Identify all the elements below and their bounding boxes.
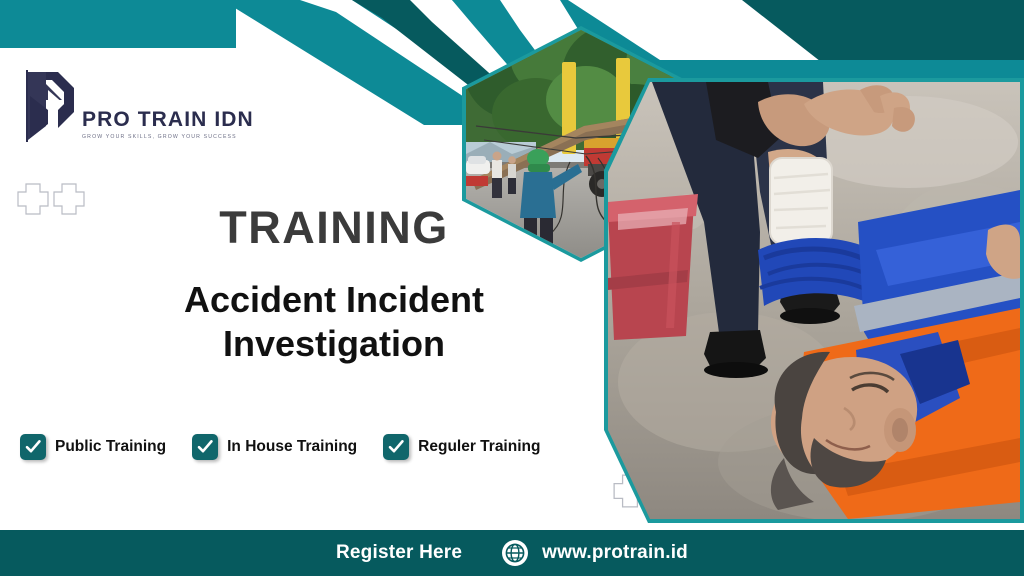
brand-logo-text: PRO TRAIN IDN GROW YOUR SKILLS, GROW YOU… [82, 109, 254, 146]
page-title: Accident Incident Investigation [124, 278, 544, 366]
website-group[interactable]: www.protrain.id [502, 540, 688, 566]
website-url[interactable]: www.protrain.id [542, 542, 688, 564]
training-type-list: Public Training In House Training Regule… [20, 434, 540, 460]
globe-icon [502, 540, 528, 566]
feature-item-public-training[interactable]: Public Training [20, 434, 166, 460]
feature-label: Public Training [55, 438, 166, 456]
feature-label: Reguler Training [418, 438, 540, 456]
right-photo-first-aid [604, 78, 1024, 523]
feature-item-reguler-training[interactable]: Reguler Training [383, 434, 540, 460]
right-photo-image [608, 82, 1020, 519]
checkbox-checked-icon[interactable] [20, 434, 46, 460]
brand-tagline: GROW YOUR SKILLS, GROW YOUR SUCCESS [82, 134, 254, 140]
brand-name: PRO TRAIN IDN [82, 109, 254, 130]
feature-item-in-house-training[interactable]: In House Training [192, 434, 357, 460]
footer-bar: Register Here www.protrain.id [0, 530, 1024, 576]
checkbox-checked-icon[interactable] [383, 434, 409, 460]
brand-logo: PRO TRAIN IDN GROW YOUR SKILLS, GROW YOU… [18, 66, 254, 146]
register-here-label[interactable]: Register Here [336, 542, 462, 564]
poster-canvas: PRO TRAIN IDN GROW YOUR SKILLS, GROW YOU… [0, 0, 1024, 576]
checkbox-checked-icon[interactable] [192, 434, 218, 460]
feature-label: In House Training [227, 438, 357, 456]
pro-train-arrow-logo-icon [18, 66, 76, 146]
